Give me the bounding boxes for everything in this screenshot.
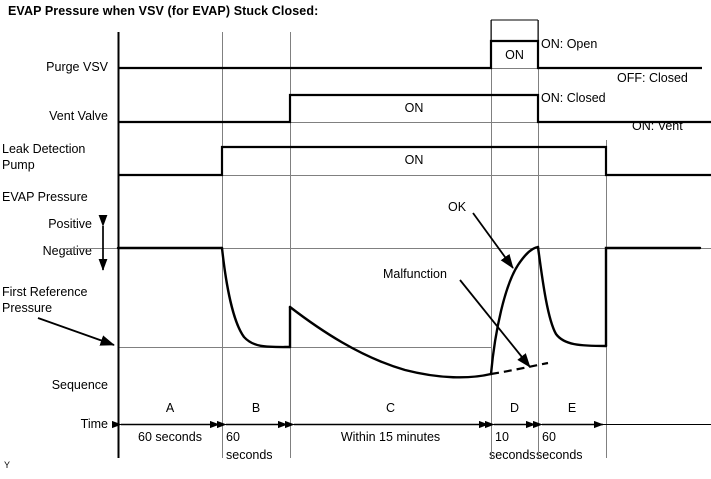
vent-valve-trace <box>118 95 711 122</box>
vertical-gridlines <box>119 20 607 458</box>
malfunction-annotation-arrow <box>460 280 530 367</box>
timing-chart-canvas <box>0 0 711 479</box>
evap-pressure-timing-diagram: EVAP Pressure when VSV (for EVAP) Stuck … <box>0 0 711 479</box>
purge-vsv-on-box-outline <box>491 20 538 41</box>
leak-detection-pump-trace <box>118 147 711 175</box>
malfunction-dashed-trace <box>491 363 548 374</box>
purge-vsv-trace <box>118 41 702 68</box>
first-reference-pressure-arrow <box>38 318 114 345</box>
horizontal-reference-lines <box>60 69 711 348</box>
ok-annotation-arrow <box>473 213 513 268</box>
evap-pressure-trace <box>118 247 700 377</box>
